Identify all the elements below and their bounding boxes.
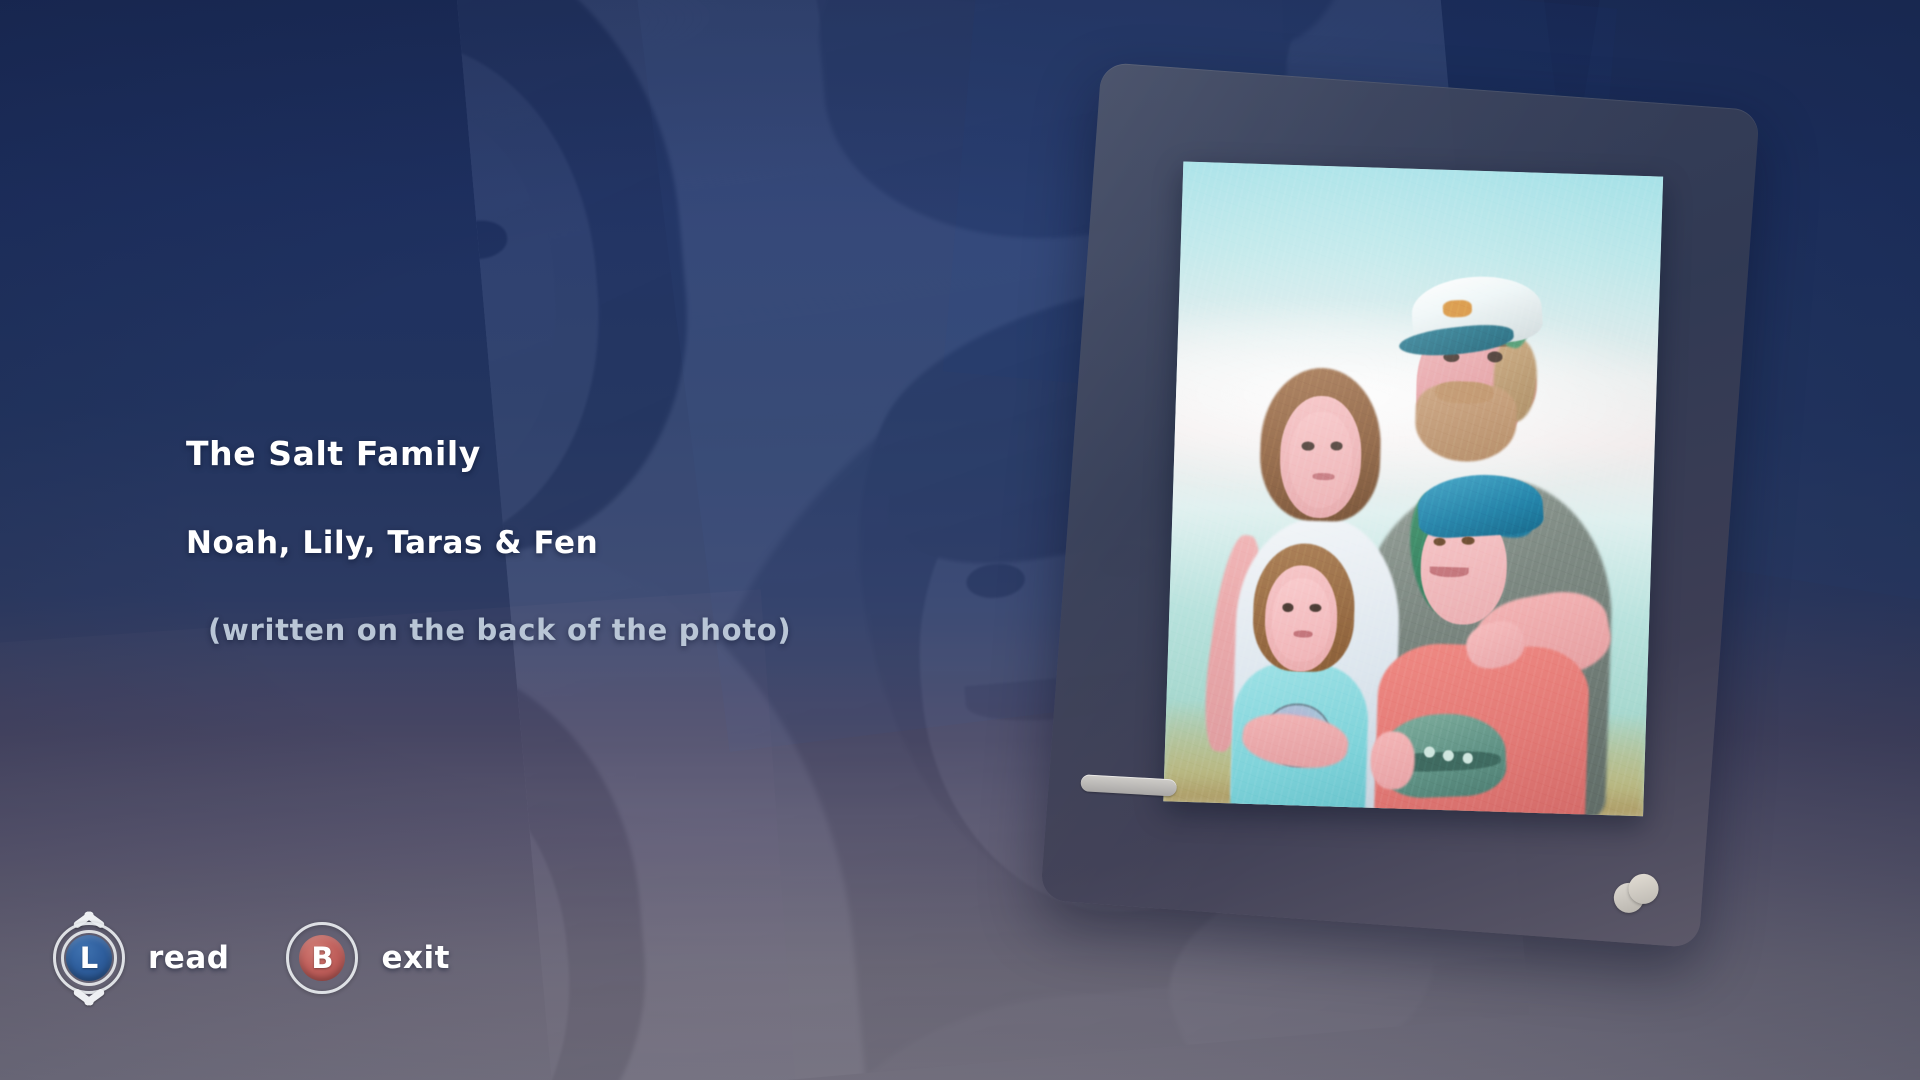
button-prompt-bar: L read B exit <box>52 894 450 1022</box>
face-button-b-wrap[interactable]: B <box>285 894 359 1022</box>
chevron-up-icon <box>70 904 108 921</box>
figure-man-eye-right <box>1487 352 1503 363</box>
prompt-label-exit: exit <box>381 940 449 976</box>
figure-girl-eye-right <box>1309 603 1321 612</box>
game-screen: The Salt Family Noah, Lily, Taras & Fen … <box>0 0 1920 1080</box>
figure-man-cap-badge <box>1443 300 1472 318</box>
b-button-glyph: B <box>311 944 333 973</box>
photo-frame-device[interactable] <box>1040 62 1760 948</box>
family-names: Noah, Lily, Taras & Fen <box>186 525 791 561</box>
page-title: The Salt Family <box>186 434 791 473</box>
prompt-read[interactable]: L read <box>52 894 229 1022</box>
chevron-down-icon <box>70 995 108 1012</box>
figure-man-moustache <box>1435 381 1493 405</box>
device-handle-bar <box>1080 774 1177 796</box>
caption-block: The Salt Family Noah, Lily, Taras & Fen … <box>186 434 791 647</box>
stick-button-l[interactable]: L <box>52 894 126 1022</box>
prompt-label-read: read <box>148 940 229 976</box>
figure-boy-hand-lower <box>1370 731 1415 790</box>
caption-note: (written on the back of the photo) <box>208 613 791 647</box>
prompt-exit[interactable]: B exit <box>285 894 449 1022</box>
figure-boy-hat-dot-1 <box>1424 747 1435 758</box>
figure-woman-mouth <box>1313 473 1335 481</box>
figure-girl-mouth <box>1293 630 1312 638</box>
l-button[interactable]: L <box>58 927 120 989</box>
figure-boy-hat-dot-2 <box>1443 750 1454 761</box>
figure-girl-eye-left <box>1282 603 1294 612</box>
l-button-glyph: L <box>80 944 98 973</box>
family-photo[interactable] <box>1163 162 1663 817</box>
b-button[interactable]: B <box>291 927 353 989</box>
figure-girl-face <box>1271 577 1331 662</box>
